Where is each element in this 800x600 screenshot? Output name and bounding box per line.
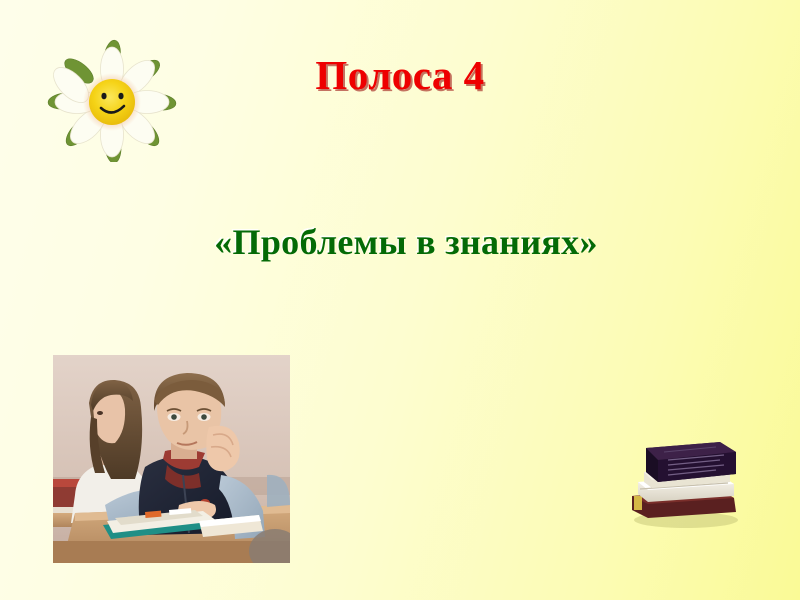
slide-title: Полоса 4	[0, 52, 800, 98]
slide-canvas: Полоса 4 «Проблемы в знаниях»	[0, 0, 800, 600]
slide-subtitle: «Проблемы в знаниях»	[0, 221, 800, 263]
classroom-bored-boy-photo	[53, 355, 290, 563]
stack-of-books-icon	[624, 432, 748, 530]
